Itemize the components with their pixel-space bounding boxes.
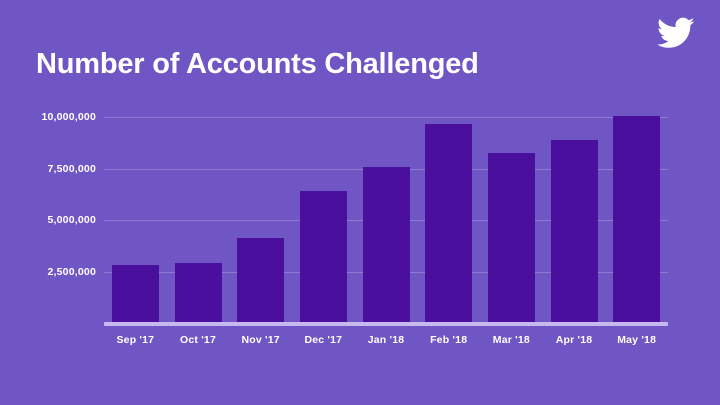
bar: [237, 238, 284, 323]
x-axis-tick-label: Mar '18: [493, 334, 530, 346]
bar: [300, 191, 347, 323]
x-axis-line: [104, 322, 668, 326]
bar: [551, 140, 598, 323]
x-axis-tick-label: Dec '17: [304, 334, 342, 346]
x-axis-tick-label: Feb '18: [430, 334, 467, 346]
x-axis-tick-label: Sep '17: [116, 334, 154, 346]
x-axis-tick-label: Nov '17: [241, 334, 279, 346]
bar: [112, 265, 159, 323]
x-axis-tick-label: Apr '18: [556, 334, 593, 346]
bar: [175, 263, 222, 323]
bar: [488, 153, 535, 323]
x-axis: Sep '17Oct '17Nov '17Dec '17Jan '18Feb '…: [0, 334, 720, 354]
slide-canvas: Number of Accounts Challenged 2,500,0005…: [0, 0, 720, 405]
bar: [363, 167, 410, 323]
x-axis-tick-label: May '18: [617, 334, 656, 346]
bar: [613, 116, 660, 323]
bar: [425, 124, 472, 323]
x-axis-tick-label: Jan '18: [368, 334, 405, 346]
bar-chart: 2,500,0005,000,0007,500,00010,000,000 Se…: [0, 0, 720, 405]
x-axis-tick-label: Oct '17: [180, 334, 216, 346]
